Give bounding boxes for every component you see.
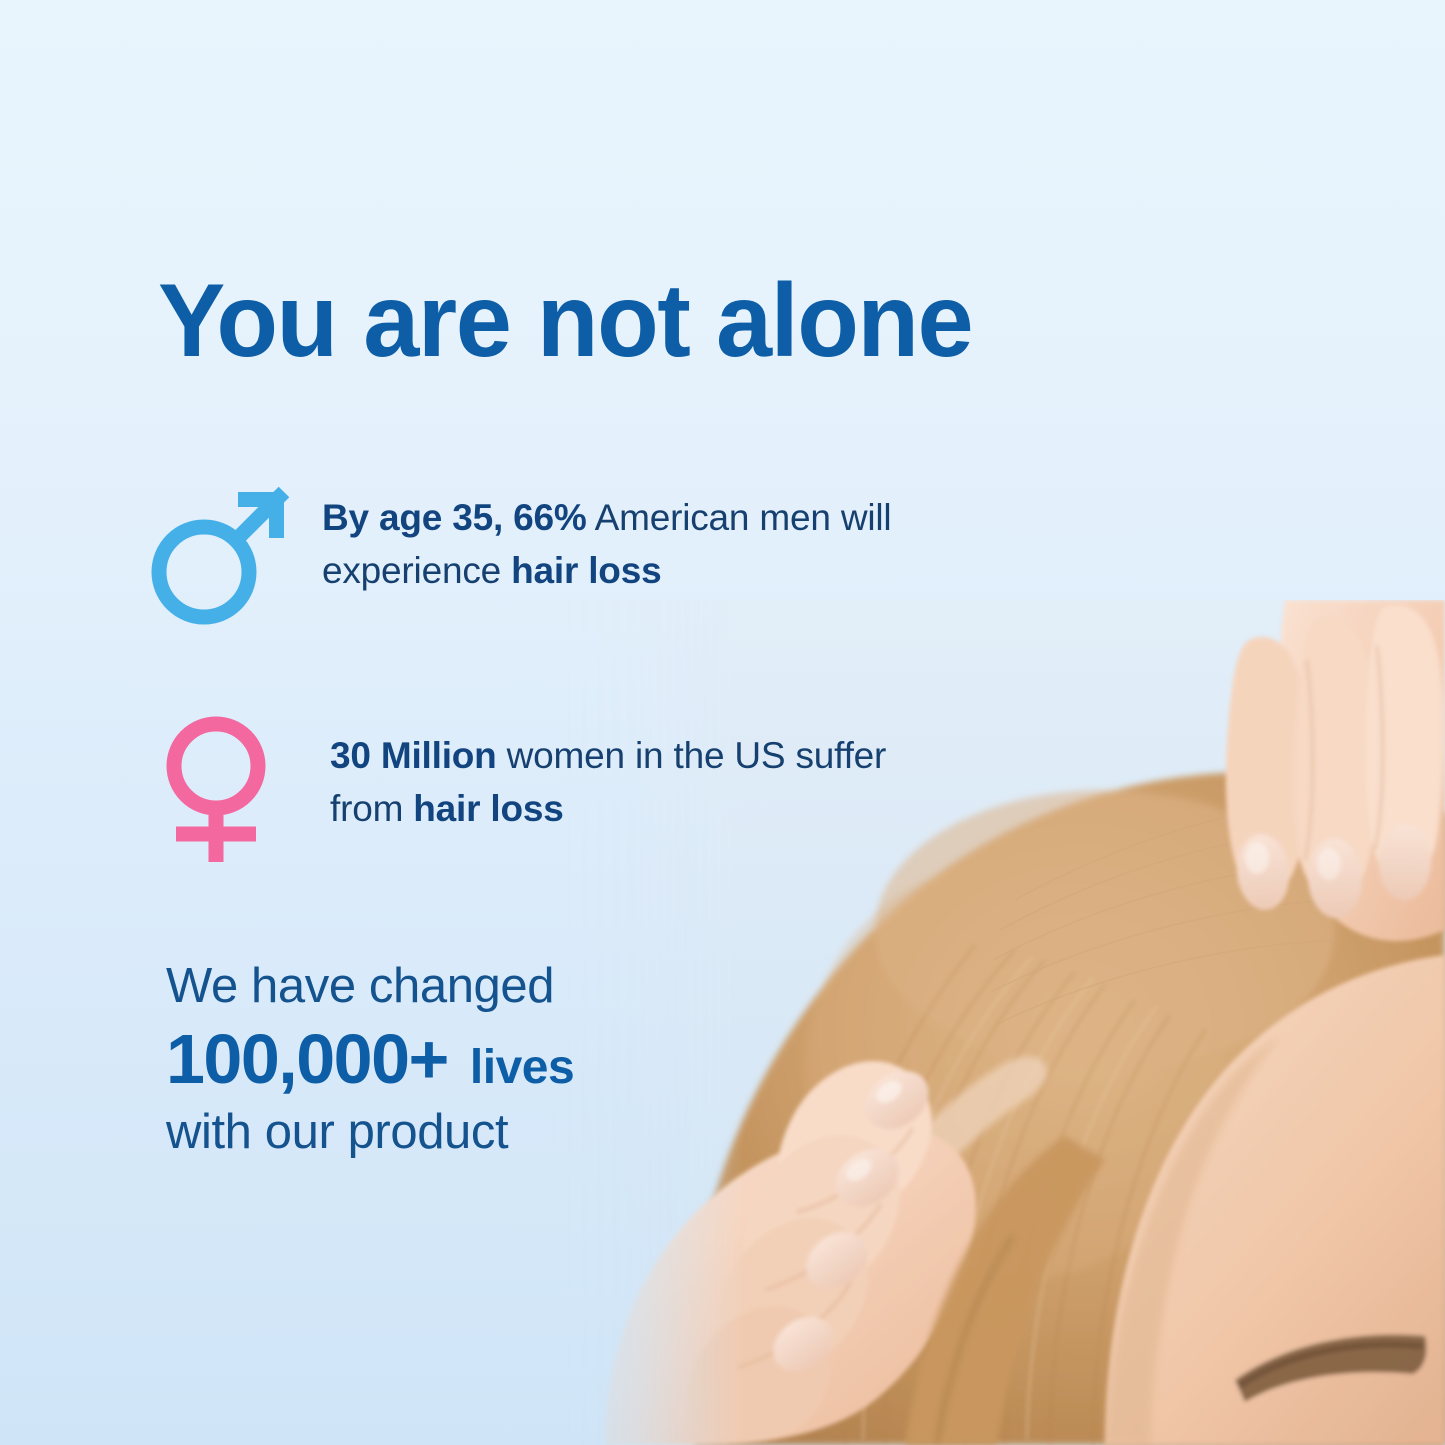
claim-number: 100,000+ [166, 1020, 448, 1098]
claim-unit: lives [470, 1041, 574, 1095]
claim-line-two: 100,000+ lives [166, 1020, 574, 1098]
claim-line-three: with our product [166, 1104, 574, 1162]
stat-lead-women: 30 Million [330, 735, 497, 776]
female-gender-icon [150, 710, 310, 870]
stat-text-men: By age 35, 66% American men will experie… [322, 492, 922, 597]
stat-text-women: 30 Million women in the US suffer from h… [330, 730, 930, 835]
page-title: You are not alone [158, 268, 972, 374]
stat-emphasis-women: hair loss [413, 788, 563, 829]
stat-row-men: By age 35, 66% American men will experie… [142, 468, 922, 630]
claim-block: We have changed 100,000+ lives with our … [166, 958, 574, 1162]
infographic-canvas: You are not alone By age 35, 66% America… [0, 0, 1445, 1445]
stat-row-women: 30 Million women in the US suffer from h… [150, 708, 930, 870]
stat-emphasis-men: hair loss [511, 550, 661, 591]
stat-lead-men: By age 35, 66% [322, 497, 587, 538]
male-gender-icon [142, 470, 302, 630]
claim-line-one: We have changed [166, 958, 574, 1016]
